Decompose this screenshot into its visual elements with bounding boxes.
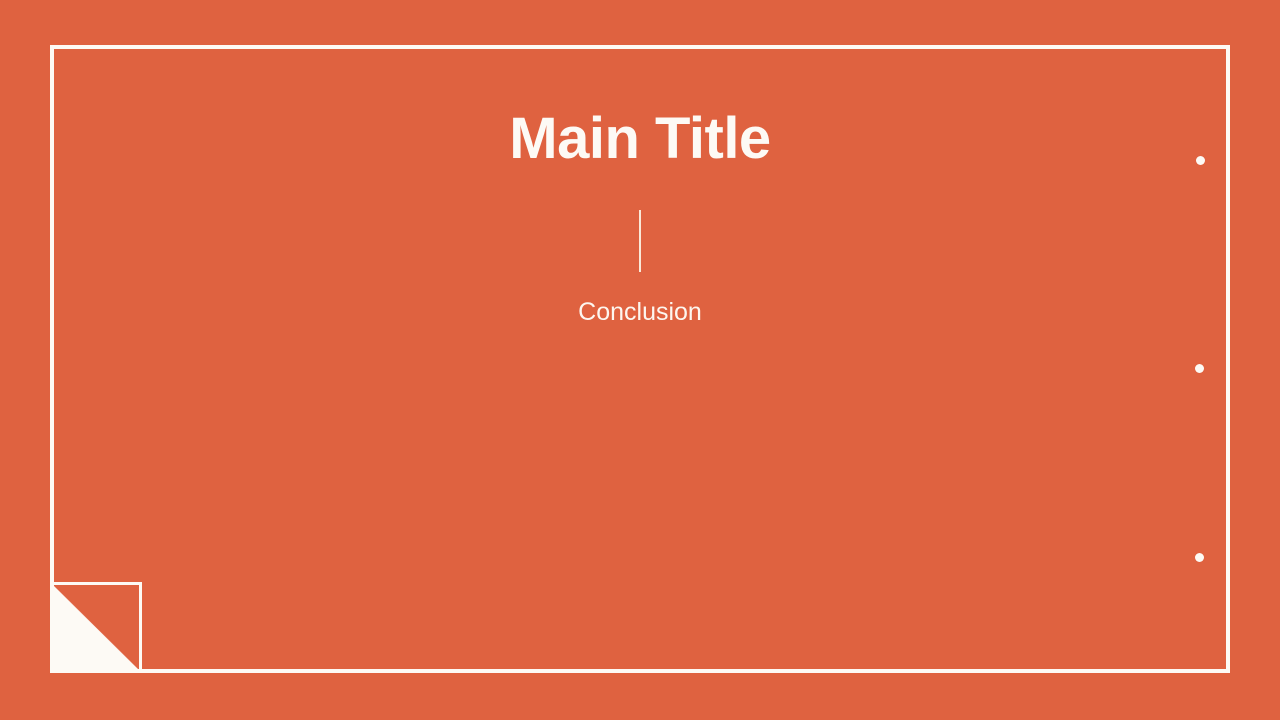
page-title: Main Title [0, 106, 1280, 173]
presentation-slide: Main Title Conclusion [0, 0, 1280, 720]
bullet-dot-1-icon [1196, 156, 1205, 165]
triangle-fill-shape [53, 585, 139, 670]
bullet-dot-3-icon [1195, 553, 1204, 562]
slide-subtitle: Conclusion [0, 296, 1280, 329]
triangle-square-corner-icon [50, 582, 142, 673]
vertical-divider-rule [639, 210, 641, 272]
bullet-dot-2-icon [1195, 364, 1204, 373]
